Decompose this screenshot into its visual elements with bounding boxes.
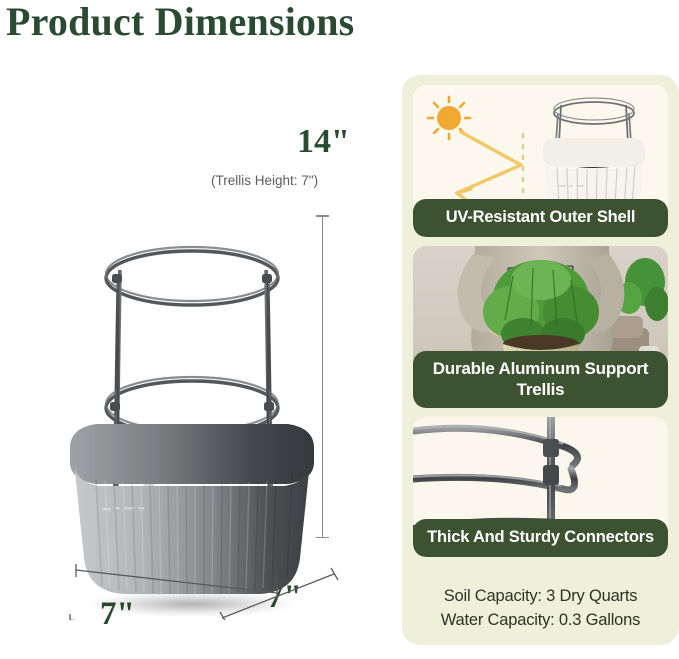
width-dimension-lines [70,560,360,620]
water-capacity-text: Water Capacity: 0.3 Gallons [402,608,679,633]
product-dimension-diagram: 14" (Trellis Height: 7") 7" 7" [0,60,400,659]
feature-card-support-trellis[interactable]: Durable Aluminum Support Trellis [413,246,668,408]
capacity-block: Soil Capacity: 3 Dry Quarts Water Capaci… [402,584,679,634]
feature-caption-connectors: Thick And Sturdy Connectors [413,519,668,557]
feature-panel: UV-Resistant Outer Shell [402,75,679,645]
trellis-height-note: (Trellis Height: 7") [211,173,318,188]
feature-caption-support-trellis: Durable Aluminum Support Trellis [413,351,668,408]
feature-card-uv-resistant[interactable]: UV-Resistant Outer Shell [413,85,668,237]
soil-capacity-text: Soil Capacity: 3 Dry Quarts [402,584,679,609]
page-title: Product Dimensions [6,0,354,45]
feature-caption-uv-resistant: UV-Resistant Outer Shell [413,199,668,237]
feature-card-connectors[interactable]: Thick And Sturdy Connectors [413,417,668,557]
planter-illustration [40,190,370,620]
height-dimension-label: 14" [297,123,350,161]
